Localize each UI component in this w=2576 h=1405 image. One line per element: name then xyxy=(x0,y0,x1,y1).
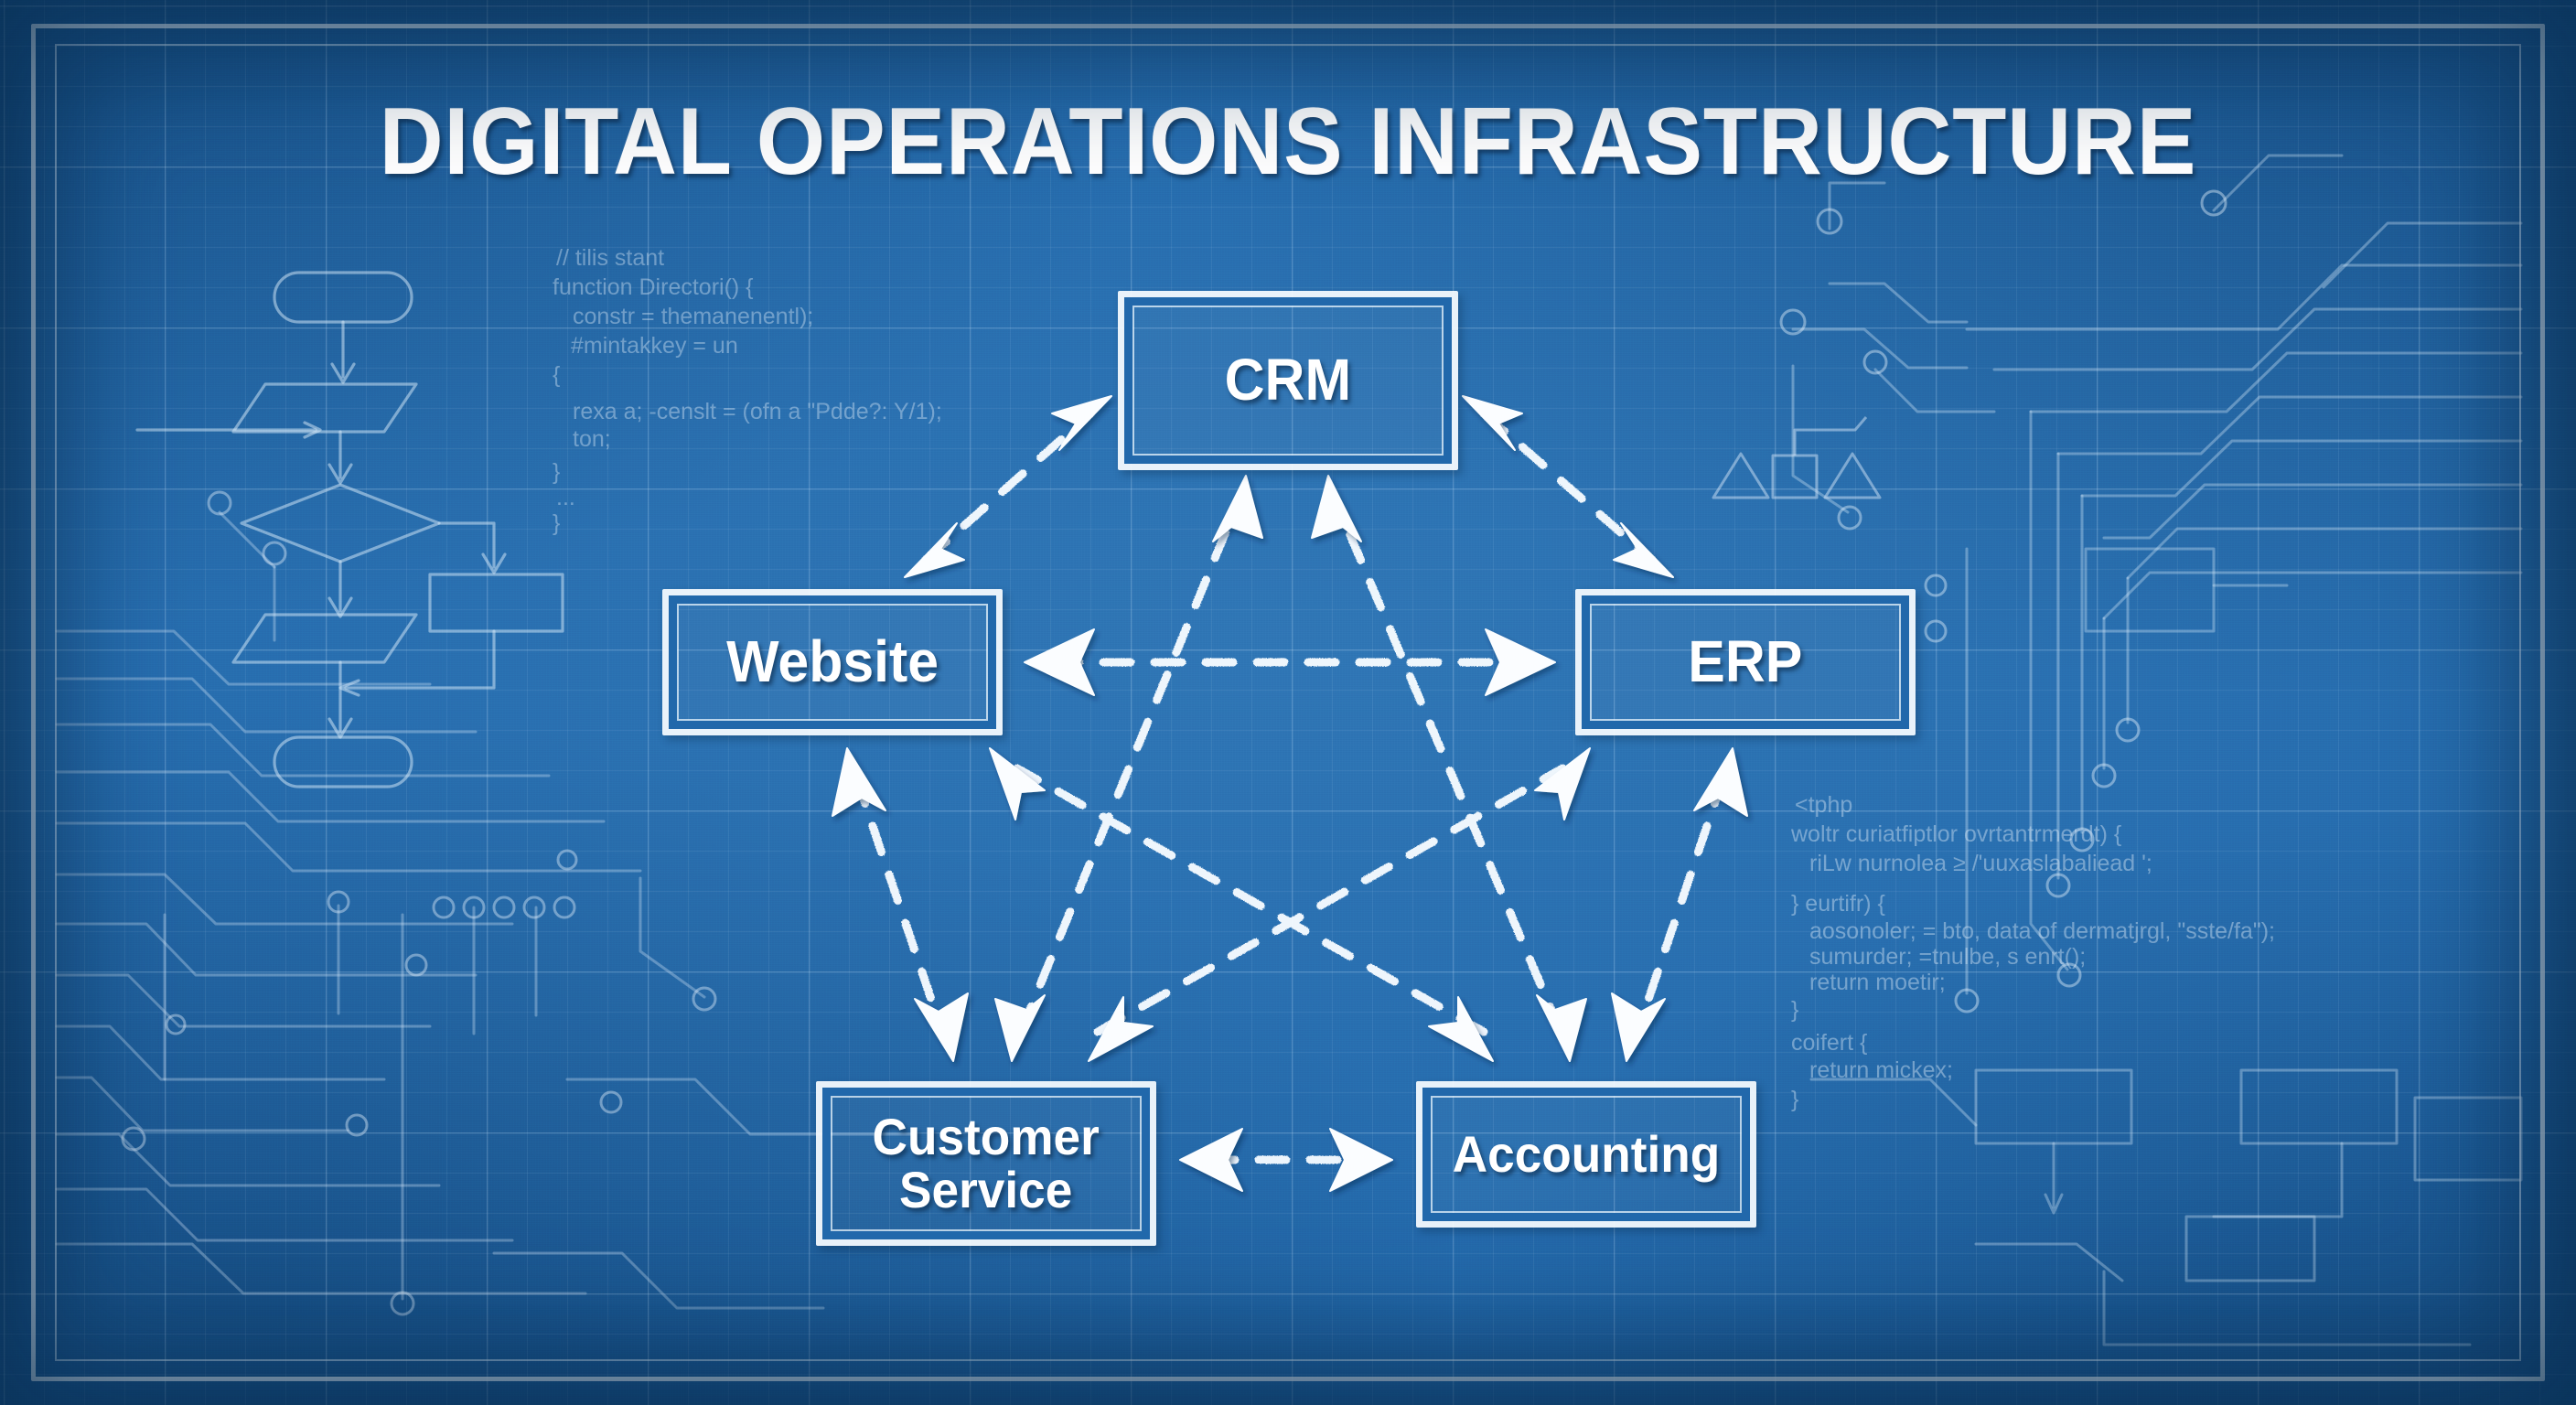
major-grid xyxy=(0,0,2576,1405)
fine-grid xyxy=(0,0,2576,1405)
background-code-left: // tilis stant function Directori() { co… xyxy=(0,0,2576,1405)
svg-text:}: } xyxy=(1791,997,1798,1023)
svg-text:return mickex;: return mickex; xyxy=(1809,1057,1953,1083)
svg-text:<tphp: <tphp xyxy=(1795,792,1852,818)
node-accounting-label: Accounting xyxy=(1453,1128,1721,1181)
svg-text:ton;: ton; xyxy=(573,426,611,452)
svg-text:function Directori() {: function Directori() { xyxy=(553,274,754,300)
edge-cs-crm xyxy=(1021,505,1237,1032)
node-website-label: Website xyxy=(726,632,939,692)
edge-cs-erp xyxy=(1098,768,1562,1032)
edge-acct-crm xyxy=(1337,505,1561,1032)
svg-text:coifert {: coifert { xyxy=(1791,1030,1867,1056)
svg-text:sumurder; =tnulbe, s enrt();: sumurder; =tnulbe, s enrt(); xyxy=(1809,944,2086,970)
vignette xyxy=(0,0,2576,1405)
svg-text:...: ... xyxy=(556,485,575,510)
symbol-glyph-group xyxy=(1713,417,1880,498)
svg-text:woltr curiatfiptlor ovrtantrme: woltr curiatfiptlor ovrtantrmerdt) { xyxy=(1790,821,2121,847)
edge-website-cs xyxy=(856,778,942,1032)
edge-acct-website xyxy=(1017,768,1484,1032)
node-accounting[interactable]: Accounting xyxy=(1416,1081,1756,1228)
arrowhead-group xyxy=(832,396,1747,1191)
svg-text:rexa a; -censlt = (ofn a "Pdde: rexa a; -censlt = (ofn a "Pdde?: Y/1); xyxy=(573,399,942,424)
svg-text:}: } xyxy=(553,510,560,536)
connection-layer xyxy=(0,0,2576,1405)
paper-texture xyxy=(0,0,2576,1405)
node-customer-service[interactable]: Customer Service xyxy=(816,1081,1156,1246)
node-crm[interactable]: CRM xyxy=(1118,291,1458,470)
svg-text:}: } xyxy=(553,459,560,485)
blueprint-canvas: // tilis stant function Directori() { co… xyxy=(0,0,2576,1405)
background-code-right: <tphp woltr curiatfiptlor ovrtantrmerdt)… xyxy=(0,0,2576,1405)
svg-text:return moetir;: return moetir; xyxy=(1809,970,1946,995)
svg-text:aosonoler; = bto, data of derm: aosonoler; = bto, data of dermatjrgl, "s… xyxy=(1809,918,2275,944)
page-title: DIGITAL OPERATIONS INFRASTRUCTURE xyxy=(91,88,2486,197)
svg-text:} eurtifr) {: } eurtifr) { xyxy=(1791,891,1885,917)
background-circuit-left xyxy=(0,0,2576,1405)
svg-text:// tilis stant: // tilis stant xyxy=(556,245,664,271)
background-flowchart-left xyxy=(0,0,2576,1405)
svg-text:{: { xyxy=(553,362,560,388)
node-website[interactable]: Website xyxy=(662,589,1003,735)
svg-text:riLw nurnolea ≥ /'uuxaslabalie: riLw nurnolea ≥ /'uuxaslabaliead '; xyxy=(1809,851,2152,876)
svg-text:constr = themanenentl);: constr = themanenentl); xyxy=(573,304,813,329)
node-erp[interactable]: ERP xyxy=(1575,589,1916,735)
node-customer-service-label: Customer Service xyxy=(873,1110,1100,1216)
node-crm-label: CRM xyxy=(1225,350,1351,411)
blueprint-frame-outer xyxy=(31,24,2545,1381)
background-circuit-right xyxy=(0,0,2576,1405)
svg-text:}: } xyxy=(1791,1087,1798,1112)
node-cs-line2: Service xyxy=(899,1161,1072,1218)
edge-website-crm xyxy=(926,413,1090,560)
blueprint-frame-inner xyxy=(55,44,2521,1361)
node-cs-line1: Customer xyxy=(873,1108,1100,1165)
edge-crm-erp xyxy=(1484,413,1652,560)
edge-erp-acct xyxy=(1637,778,1723,1032)
svg-text:#mintakkey = un: #mintakkey = un xyxy=(571,333,738,359)
paper-grain xyxy=(0,0,2576,1405)
node-erp-label: ERP xyxy=(1688,632,1802,692)
